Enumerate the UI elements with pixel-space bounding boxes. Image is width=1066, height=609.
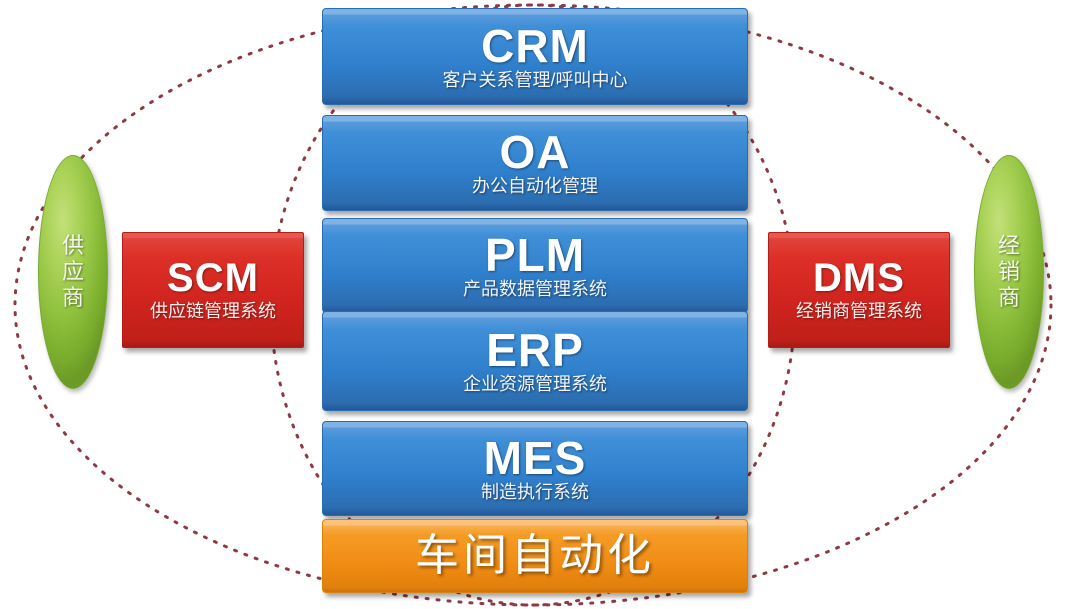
system-chinese-name: 产品数据管理系统: [463, 280, 607, 300]
partner-oval-left[interactable]: 供应商: [38, 155, 108, 389]
partner-label: 供应商: [60, 233, 86, 311]
system-box-plm[interactable]: PLM产品数据管理系统: [322, 218, 748, 313]
system-chinese-name: 办公自动化管理: [472, 177, 598, 197]
side-system-abbreviation: DMS: [813, 258, 905, 298]
system-box-车间自动化[interactable]: 车间自动化: [322, 519, 748, 593]
system-abbreviation: ERP: [486, 327, 584, 373]
system-chinese-name: 制造执行系统: [481, 483, 589, 503]
system-abbreviation: OA: [500, 129, 571, 175]
side-system-abbreviation: SCM: [167, 258, 259, 298]
system-box-oa[interactable]: OA办公自动化管理: [322, 115, 748, 211]
system-abbreviation: CRM: [481, 23, 589, 69]
system-abbreviation: 车间自动化: [415, 534, 655, 578]
diagram-canvas: CRM客户关系管理/呼叫中心OA办公自动化管理PLM产品数据管理系统ERP企业资…: [0, 0, 1066, 609]
system-box-mes[interactable]: MES制造执行系统: [322, 421, 748, 516]
side-system-chinese-name: 经销商管理系统: [796, 302, 922, 322]
side-system-box-scm[interactable]: SCM供应链管理系统: [122, 232, 304, 348]
partner-oval-right[interactable]: 经销商: [974, 155, 1044, 389]
system-chinese-name: 企业资源管理系统: [463, 375, 607, 395]
partner-label: 经销商: [996, 233, 1022, 311]
side-system-chinese-name: 供应链管理系统: [150, 302, 276, 322]
side-system-box-dms[interactable]: DMS经销商管理系统: [768, 232, 950, 348]
system-abbreviation: PLM: [485, 232, 585, 278]
system-box-erp[interactable]: ERP企业资源管理系统: [322, 311, 748, 411]
system-abbreviation: MES: [484, 435, 587, 481]
system-chinese-name: 客户关系管理/呼叫中心: [443, 71, 628, 91]
system-box-crm[interactable]: CRM客户关系管理/呼叫中心: [322, 8, 748, 105]
